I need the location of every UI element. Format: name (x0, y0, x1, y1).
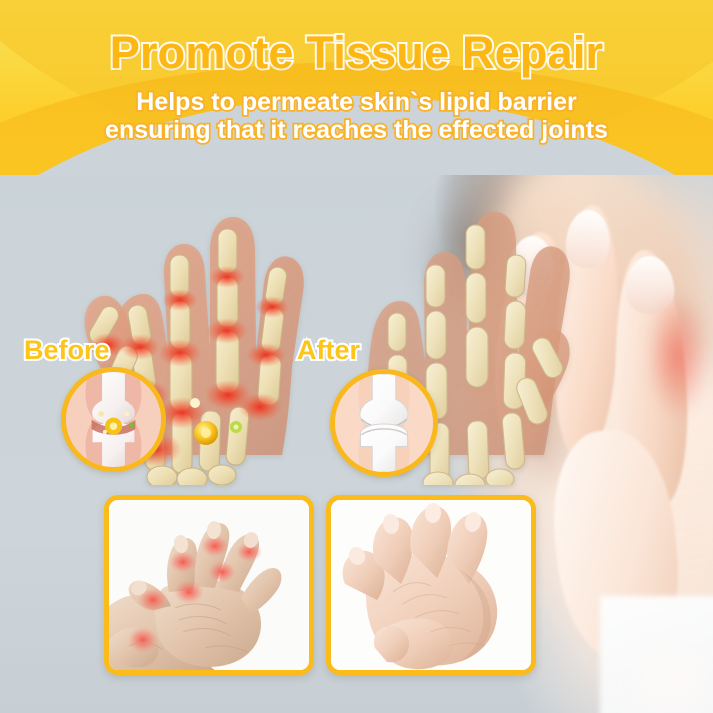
background-inflammation-highlight (648, 296, 708, 416)
label-after: After (297, 335, 360, 366)
magnifier-circle-after (330, 369, 438, 477)
healthy-joint-diagram (335, 374, 433, 472)
label-before: Before (24, 335, 110, 366)
diseased-joint-diagram (66, 372, 161, 467)
magnifier-circle-before (61, 367, 166, 472)
subtitle-line-2: ensuring that it reaches the effected jo… (0, 116, 713, 145)
subtitle-line-1: Helps to permeate skin`s lipid barrier (0, 88, 713, 117)
promotional-poster: Promote Tissue Repair Helps to permeate … (0, 0, 713, 713)
page-title: Promote Tissue Repair (0, 27, 713, 79)
photo-panel-arthritic-hands (104, 495, 314, 675)
healthy-hand-photo (331, 500, 531, 670)
arthritic-hands-photo (109, 500, 309, 670)
photo-panel-healthy-hand (326, 495, 536, 675)
